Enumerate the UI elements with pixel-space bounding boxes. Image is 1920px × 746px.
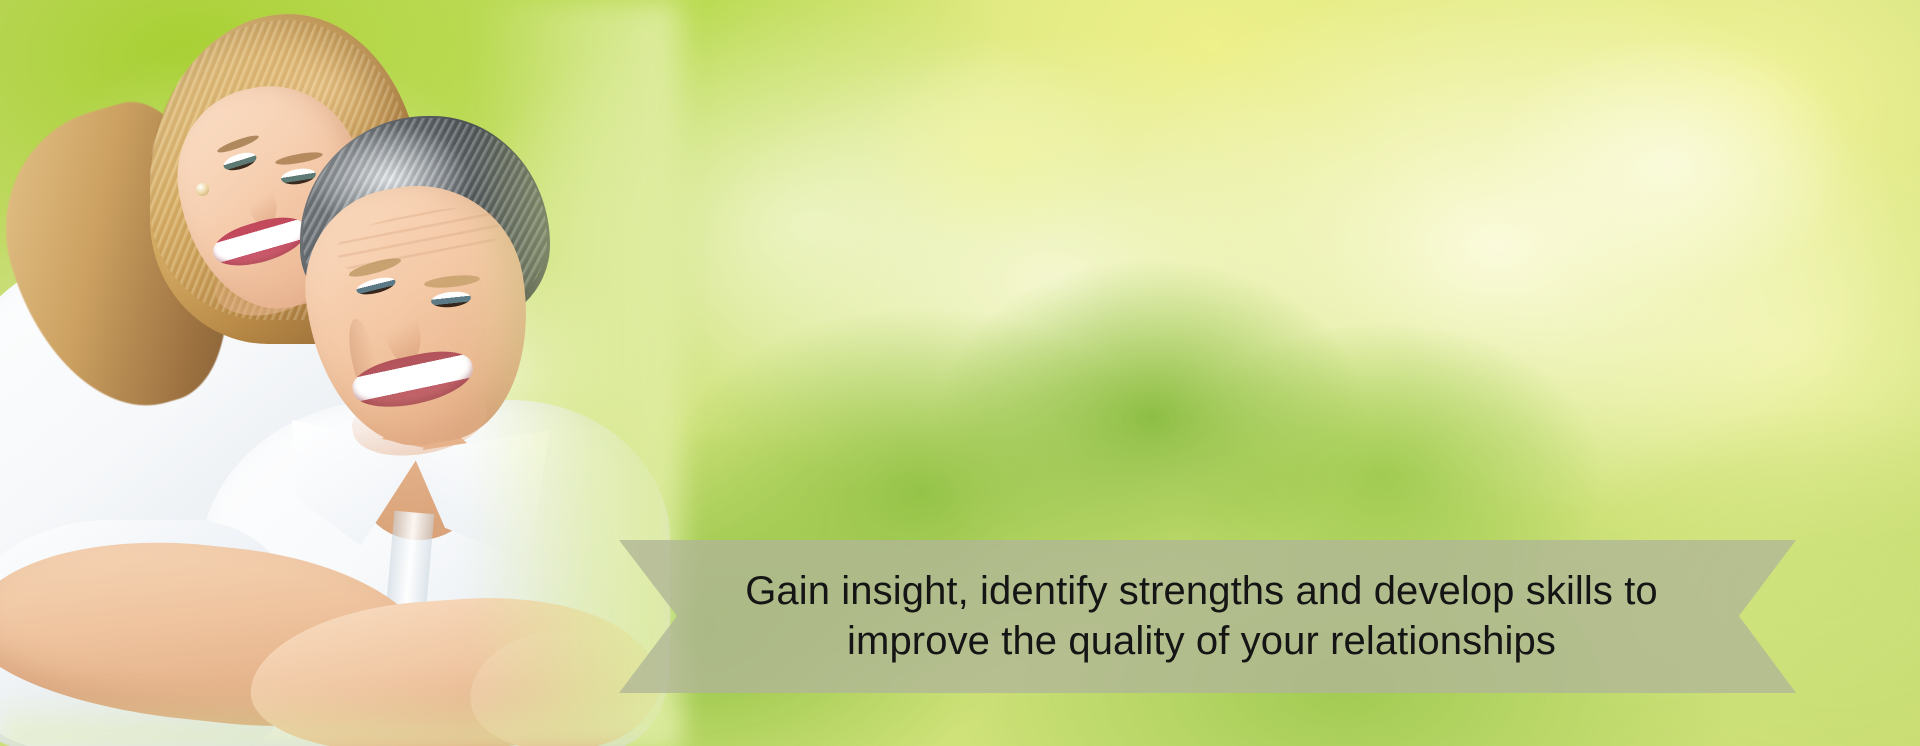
woman-earring bbox=[196, 183, 209, 196]
ribbon-caption-line-1: Gain insight, identify strengths and dev… bbox=[745, 567, 1658, 617]
ribbon-caption-line-2: improve the quality of your relationship… bbox=[847, 617, 1556, 667]
hero-banner: Gain insight, identify strengths and dev… bbox=[0, 0, 1920, 746]
photo-edge-blend-bottom bbox=[0, 690, 680, 746]
ribbon-caption: Gain insight, identify strengths and dev… bbox=[619, 540, 1796, 693]
